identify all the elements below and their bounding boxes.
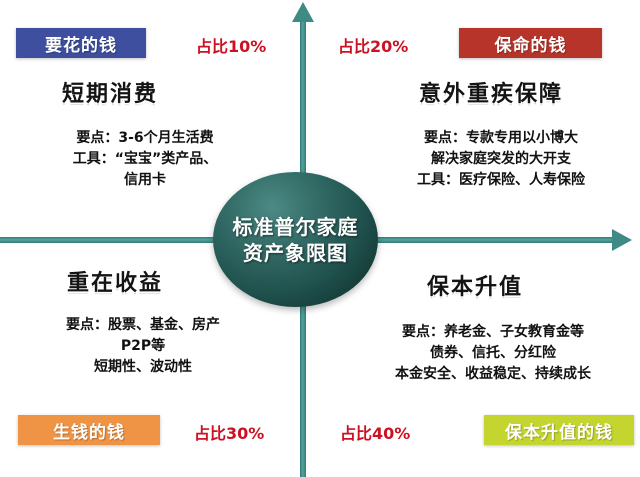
body-bottom-left: 要点：股票、基金、房产 P2P等 短期性、波动性	[12, 315, 274, 378]
body-line: P2P等	[12, 336, 274, 357]
center-title-line-2: 资产象限图	[243, 240, 348, 266]
center-title-line-1: 标准普尔家庭	[233, 214, 359, 240]
body-top-right: 要点：专款专用以小博大 解决家庭突发的大开支 工具：医疗保险、人寿保险	[370, 128, 632, 191]
body-line: 工具：医疗保险、人寿保险	[370, 170, 632, 191]
body-line: 债券、信托、分红险	[352, 343, 634, 364]
body-line: 本金安全、收益稳定、持续成长	[352, 364, 634, 385]
arrow-right-icon	[612, 229, 632, 251]
tag-bottom-right: 保本升值的钱	[484, 415, 634, 445]
percent-top-right: 占比20%	[338, 33, 408, 57]
percent-top-left: 占比10%	[196, 33, 266, 57]
tag-top-right: 保命的钱	[459, 28, 602, 58]
body-top-left: 要点：3-6个月生活费 工具：“宝宝”类产品、 信用卡	[20, 128, 270, 191]
asset-quadrant-diagram: 标准普尔家庭 资产象限图 要花的钱 占比10% 短期消费 要点：3-6个月生活费…	[0, 0, 640, 477]
tag-top-left: 要花的钱	[16, 28, 146, 58]
center-sphere: 标准普尔家庭 资产象限图	[213, 172, 378, 307]
body-line: 短期性、波动性	[12, 357, 274, 378]
percent-bottom-right: 占比40%	[340, 420, 410, 444]
arrow-up-icon	[292, 2, 314, 22]
body-line: 要点：3-6个月生活费	[20, 128, 270, 149]
body-line: 要点：专款专用以小博大	[370, 128, 632, 149]
heading-bottom-right: 保本升值	[427, 269, 523, 301]
body-line: 工具：“宝宝”类产品、	[20, 149, 270, 170]
body-line: 要点：养老金、子女教育金等	[352, 322, 634, 343]
body-line: 要点：股票、基金、房产	[12, 315, 274, 336]
tag-bottom-left: 生钱的钱	[18, 415, 160, 445]
body-line: 解决家庭突发的大开支	[370, 149, 632, 170]
body-line: 信用卡	[20, 170, 270, 191]
heading-top-left: 短期消费	[62, 76, 158, 108]
body-bottom-right: 要点：养老金、子女教育金等 债券、信托、分红险 本金安全、收益稳定、持续成长	[352, 322, 634, 385]
heading-top-right: 意外重疾保障	[419, 76, 563, 108]
percent-bottom-left: 占比30%	[194, 420, 264, 444]
heading-bottom-left: 重在收益	[67, 265, 163, 297]
